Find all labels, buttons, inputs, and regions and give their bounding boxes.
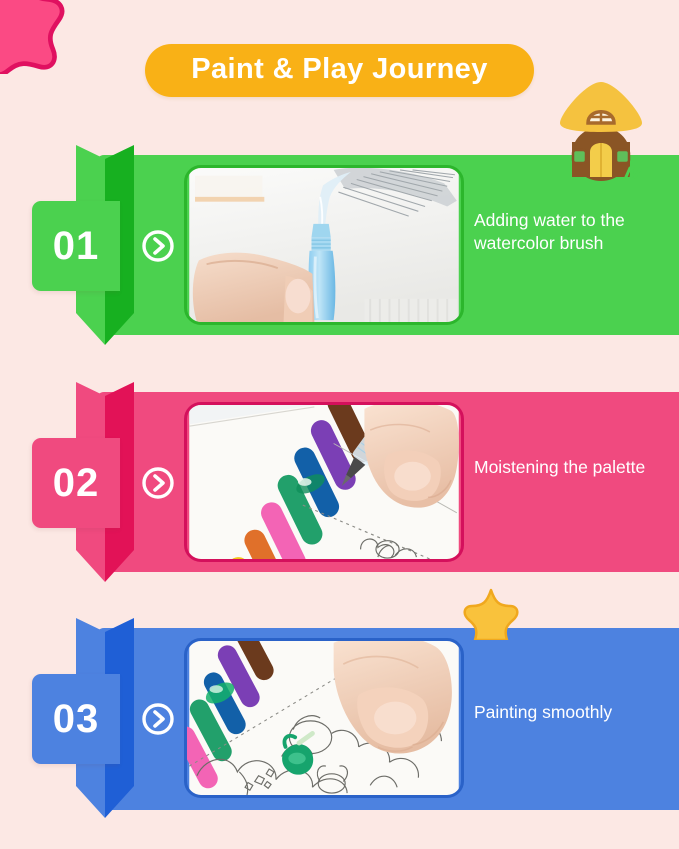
chevron-right-icon	[141, 702, 175, 736]
step-row-3: 03	[0, 628, 679, 810]
step-caption-3: Painting smoothly	[474, 701, 674, 724]
chevron-right-icon	[141, 466, 175, 500]
step-photo-1	[184, 165, 464, 325]
chevron-right-icon	[141, 229, 175, 263]
page-title-container: Paint & Play Journey	[0, 44, 679, 97]
step-number-plate-3: 03	[32, 674, 120, 764]
title-pill: Paint & Play Journey	[145, 44, 534, 97]
step-row-2: 02	[0, 392, 679, 572]
step-number-1: 01	[53, 226, 100, 266]
pink-star-icon	[0, 0, 70, 74]
step-caption-2: Moistening the palette	[474, 456, 654, 479]
page-title: Paint & Play Journey	[191, 55, 488, 84]
step-number-3: 03	[53, 699, 100, 739]
yellow-star-icon	[462, 588, 520, 640]
step-number-2: 02	[53, 463, 100, 503]
step-number-plate-1: 01	[32, 201, 120, 291]
step-photo-2	[184, 402, 464, 562]
step-photo-3	[184, 638, 464, 798]
step-number-plate-2: 02	[32, 438, 120, 528]
step-caption-1: Adding water to the watercolor brush	[474, 209, 654, 256]
